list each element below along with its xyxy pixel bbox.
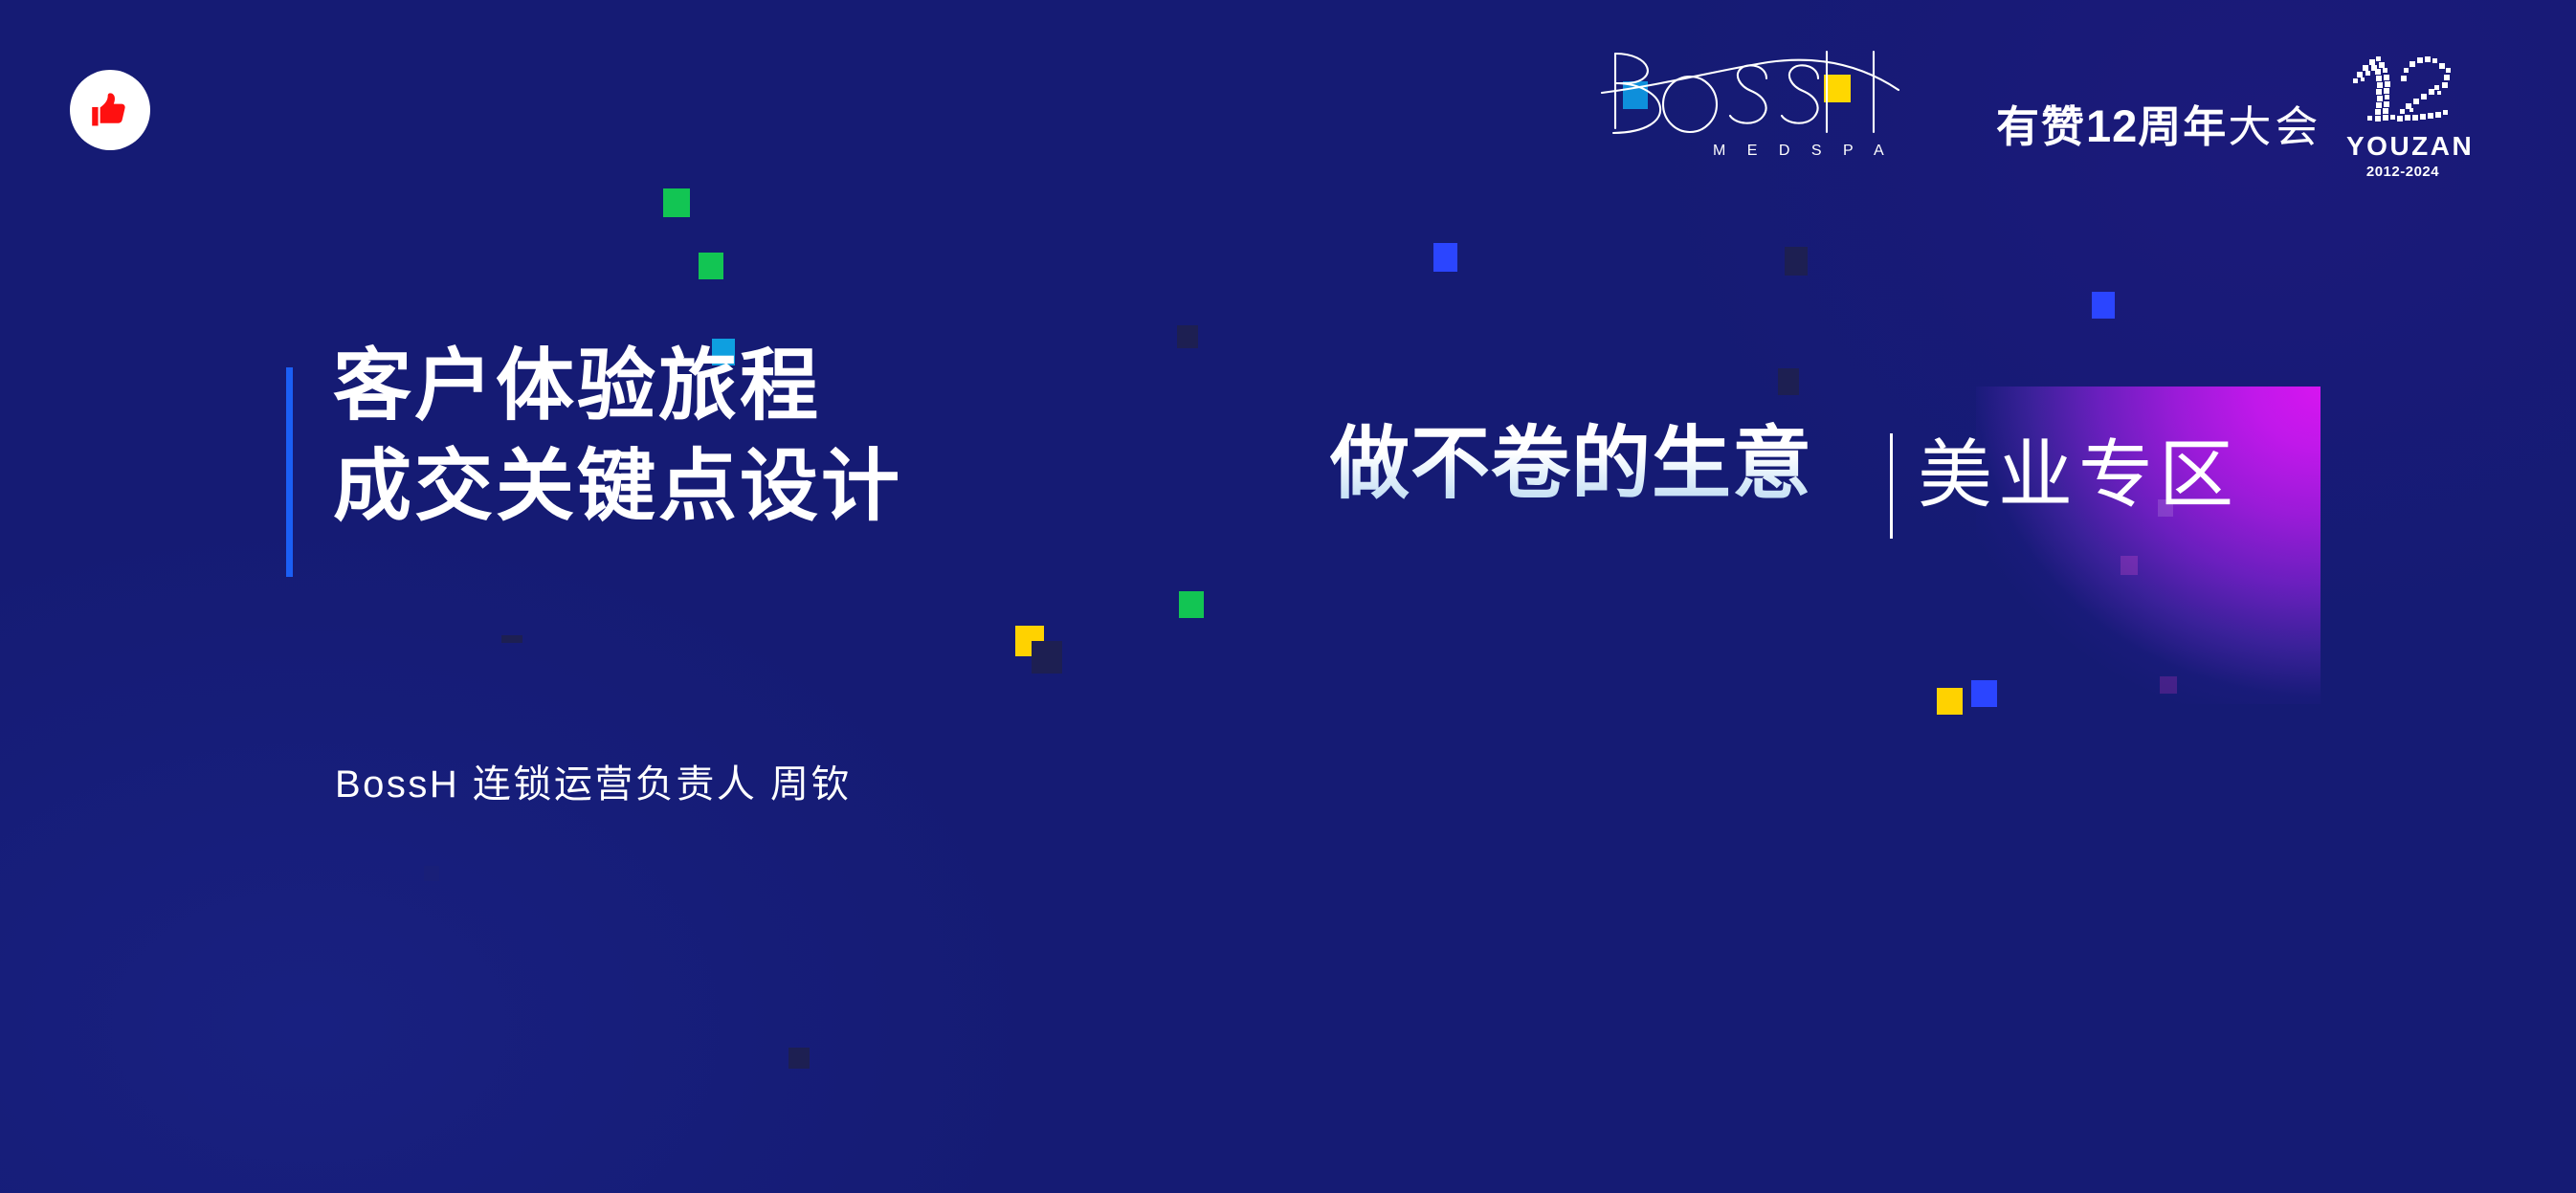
anniversary-number-dots: [2346, 50, 2459, 132]
conference-title-number: 12: [2086, 100, 2138, 151]
anniversary-brand: YOUZAN: [2346, 133, 2459, 160]
blue-square-1: [1433, 243, 1457, 272]
bossh-logo: M E D S P A: [1600, 36, 1937, 161]
zone-label: 美业专区: [1918, 432, 2239, 519]
headline-line-1: 客户体验旅程: [333, 337, 1194, 437]
dark-square-3: [1778, 368, 1799, 395]
anniversary-badge: YOUZAN 2012-2024: [2346, 50, 2459, 172]
thumbs-up-icon: [88, 88, 132, 132]
conference-title-tail: 大会: [2228, 102, 2321, 151]
yellow-square-1: [1015, 626, 1044, 656]
panel-square-3: [2160, 676, 2177, 694]
blue-square-2: [2092, 292, 2115, 319]
logo-subtitle: M E D S P A: [1713, 143, 1893, 159]
headline-accent-bar: [286, 367, 293, 577]
dark-square-2: [1785, 247, 1808, 276]
green-square-3: [1179, 591, 1204, 618]
slogan-text: 做不卷的生意: [1330, 418, 1812, 509]
green-square-1: [663, 188, 690, 217]
dark-square-6: [788, 1048, 810, 1069]
panel-square-2: [2121, 556, 2138, 575]
thumbs-up-badge: [70, 70, 150, 150]
yellow-square-2: [1937, 688, 1963, 715]
conference-title: 有赞12周年大会: [1996, 103, 2321, 148]
conference-title-suffix: 周年: [2138, 102, 2228, 151]
slogan-divider: [1890, 433, 1893, 539]
presentation-slide: M E D S P A 有赞12周年大会: [0, 0, 2576, 1193]
conference-title-prefix: 有赞: [1996, 102, 2086, 151]
logo-yellow-square: [1824, 75, 1851, 102]
dark-square-7: [424, 866, 439, 881]
speaker-credit: BossH 连锁运营负责人 周钦: [335, 765, 852, 804]
anniversary-years: 2012-2024: [2346, 165, 2459, 179]
headline-line-2: 成交关键点设计: [333, 437, 1194, 538]
dark-square-5: [501, 635, 522, 643]
green-square-2: [699, 253, 723, 279]
dark-square-4: [1032, 641, 1062, 674]
page-title: 客户体验旅程 成交关键点设计: [333, 337, 1194, 538]
